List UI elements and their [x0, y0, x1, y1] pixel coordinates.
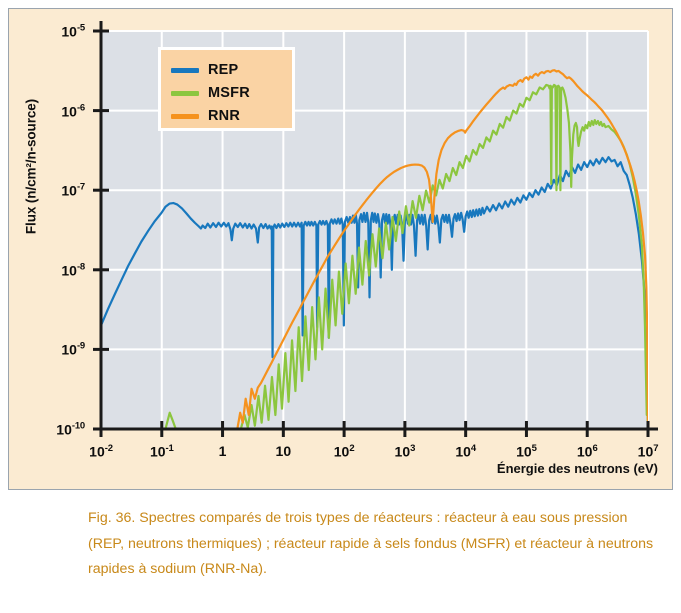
y-tick-label: 10-5 — [61, 23, 85, 40]
x-tick-label: 106 — [577, 443, 598, 460]
figure-card: Flux (n/cm²/n-source) Énergie des neutro… — [8, 8, 673, 490]
y-tick-label: 10-8 — [61, 261, 85, 278]
x-tick-label: 103 — [395, 443, 416, 460]
x-tick-label: 102 — [334, 443, 355, 460]
legend-swatch-rep — [171, 68, 199, 73]
legend-label-rep: REP — [208, 63, 238, 78]
chart-legend: REPMSFRRNR — [158, 47, 295, 131]
y-tick-label: 10-6 — [61, 102, 85, 119]
x-tick-label: 105 — [516, 443, 537, 460]
x-tick-label: 10-1 — [150, 443, 174, 460]
x-tick-label: 104 — [455, 443, 476, 460]
x-tick-label: 10 — [276, 443, 292, 459]
y-tick-label: 10-7 — [61, 182, 85, 199]
chart-plot — [9, 9, 674, 491]
legend-item-msfr: MSFR — [171, 82, 250, 104]
x-tick-label: 107 — [638, 443, 659, 460]
legend-label-rnr: RNR — [208, 109, 240, 124]
legend-label-msfr: MSFR — [208, 86, 250, 101]
y-tick-label: 10-10 — [56, 421, 85, 438]
y-tick-label: 10-9 — [61, 341, 85, 358]
legend-item-rep: REP — [171, 59, 238, 81]
legend-swatch-rnr — [171, 114, 199, 119]
legend-swatch-msfr — [171, 91, 199, 96]
legend-item-rnr: RNR — [171, 105, 240, 127]
x-tick-label: 1 — [219, 443, 227, 459]
figure-caption: Fig. 36. Spectres comparés de trois type… — [88, 506, 664, 583]
x-tick-label: 10-2 — [89, 443, 113, 460]
